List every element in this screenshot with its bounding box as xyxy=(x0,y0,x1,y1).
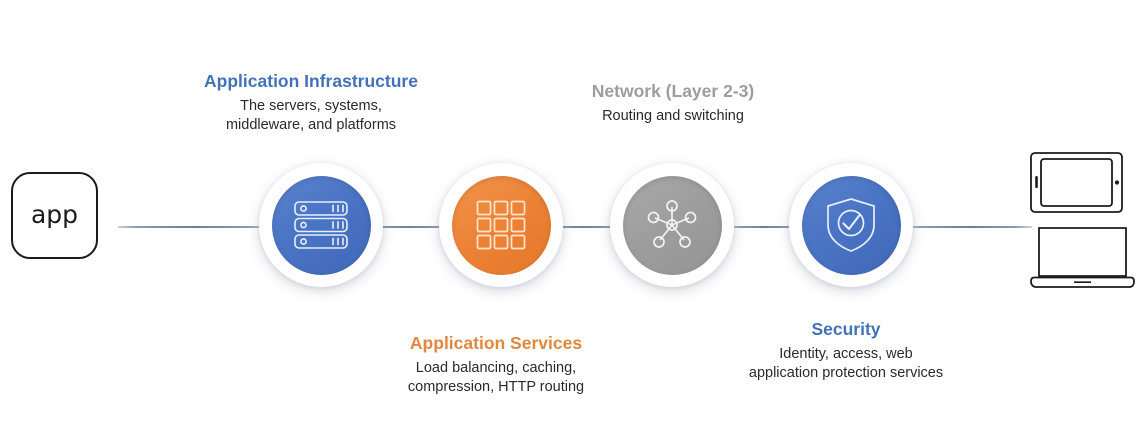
node-disc xyxy=(272,176,371,275)
node-security[interactable] xyxy=(789,163,913,287)
connector-line-app-to-infrastructure xyxy=(118,226,268,228)
node-title: Application Infrastructure xyxy=(171,71,451,93)
node-application-infrastructure[interactable] xyxy=(259,163,383,287)
node-disc xyxy=(623,176,722,275)
device-spacer xyxy=(1030,213,1135,227)
app-box[interactable]: app xyxy=(11,172,98,259)
tablet-icon[interactable] xyxy=(1030,152,1135,213)
app-box-label: app xyxy=(31,202,78,227)
grid-squares-icon xyxy=(476,200,526,250)
node-description: Load balancing, caching, compression, HT… xyxy=(375,359,617,397)
node-title: Security xyxy=(715,319,977,341)
laptop-icon[interactable] xyxy=(1030,227,1135,290)
connector-line-network-to-security xyxy=(731,226,798,228)
label-application-services: Application Services Load balancing, cac… xyxy=(375,333,617,397)
node-disc xyxy=(452,176,551,275)
node-description: Routing and switching xyxy=(551,107,795,126)
diagram-canvas: app xyxy=(0,0,1148,431)
node-network[interactable] xyxy=(610,163,734,287)
node-title: Network (Layer 2-3) xyxy=(551,81,795,103)
shield-check-icon xyxy=(825,197,877,253)
node-title: Application Services xyxy=(375,333,617,355)
label-application-infrastructure: Application Infrastructure The servers, … xyxy=(171,71,451,135)
server-stack-icon xyxy=(293,200,349,250)
node-application-services[interactable] xyxy=(439,163,563,287)
node-disc xyxy=(802,176,901,275)
endpoint-devices xyxy=(1030,152,1135,290)
label-security: Security Identity, access, web applicati… xyxy=(715,319,977,383)
network-hub-icon xyxy=(645,198,699,252)
connector-line-security-to-devices xyxy=(905,226,1032,228)
node-description: The servers, systems, middleware, and pl… xyxy=(171,97,451,135)
node-description: Identity, access, web application protec… xyxy=(715,345,977,383)
label-network: Network (Layer 2-3) Routing and switchin… xyxy=(551,81,795,126)
